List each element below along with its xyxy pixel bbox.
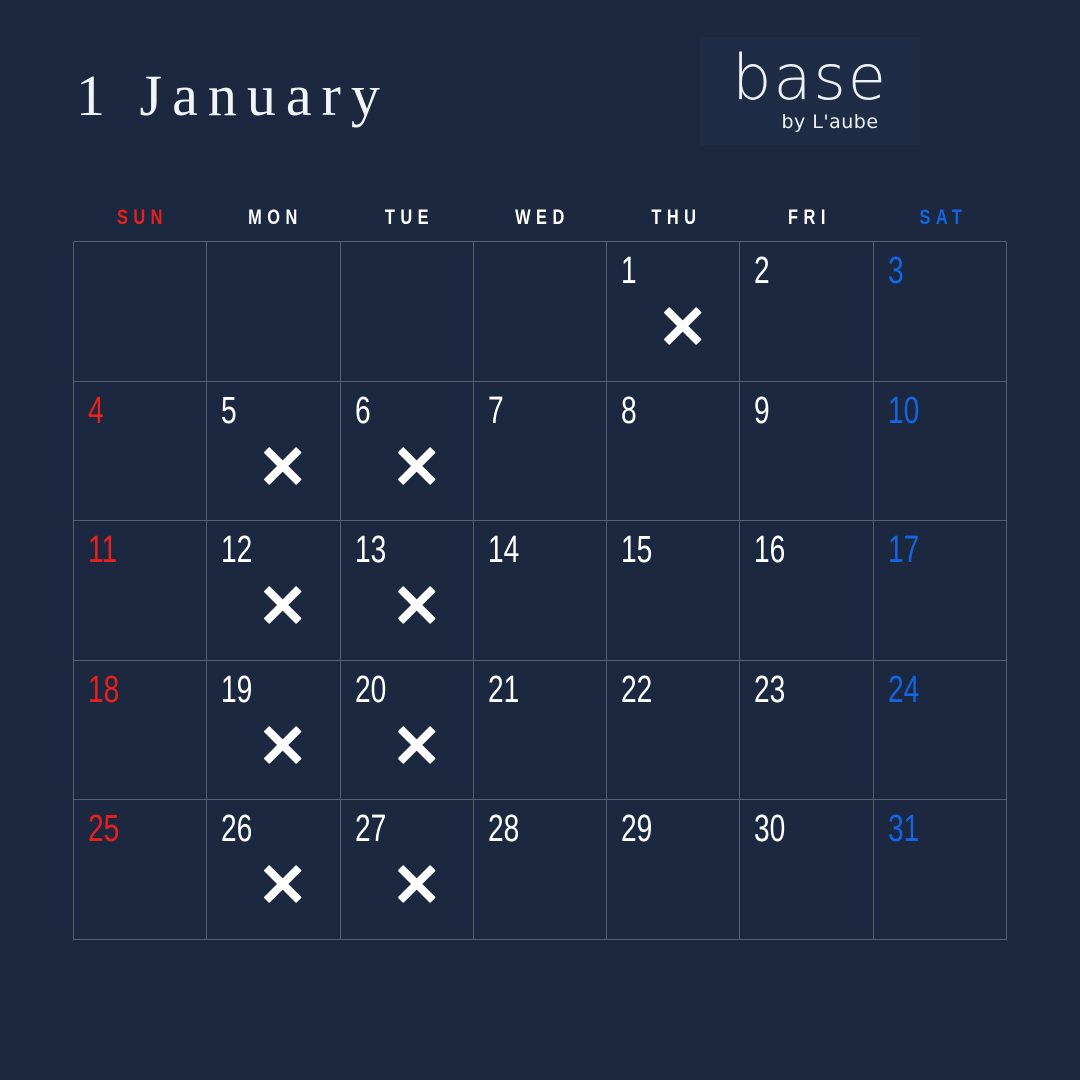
day-number: 19 — [221, 671, 252, 709]
day-number: 2 — [754, 252, 770, 290]
x-mark-icon — [661, 304, 705, 348]
day-number: 23 — [754, 671, 785, 709]
day-cell[interactable]: 21 — [474, 661, 607, 801]
day-number: 8 — [621, 392, 637, 430]
day-number: 5 — [221, 392, 237, 430]
day-number: 22 — [621, 671, 652, 709]
day-number: 24 — [888, 671, 919, 709]
day-number: 13 — [355, 531, 386, 569]
weekday-label-mon: MON — [221, 206, 325, 230]
day-number: 14 — [488, 531, 519, 569]
day-cell[interactable]: 15 — [607, 521, 740, 661]
x-mark-icon — [394, 444, 438, 488]
day-cell[interactable]: 3 — [874, 242, 1007, 382]
day-number: 9 — [754, 392, 770, 430]
day-cell[interactable]: 10 — [874, 382, 1007, 522]
x-mark-icon — [394, 723, 438, 767]
day-cell[interactable]: 9 — [740, 382, 873, 522]
day-cell[interactable]: 4 — [74, 382, 207, 522]
day-number: 31 — [888, 810, 919, 848]
day-number: 11 — [88, 531, 117, 569]
page-title: 1 January — [76, 62, 390, 129]
day-number: 12 — [221, 531, 252, 569]
day-number: 3 — [888, 252, 904, 290]
day-number: 29 — [621, 810, 652, 848]
day-cell-empty — [74, 242, 207, 382]
day-number: 17 — [888, 531, 919, 569]
day-cell[interactable]: 14 — [474, 521, 607, 661]
day-cell[interactable]: 23 — [740, 661, 873, 801]
x-mark-icon — [261, 444, 305, 488]
day-number: 30 — [754, 810, 785, 848]
day-cell[interactable]: 7 — [474, 382, 607, 522]
day-cell[interactable]: 11 — [74, 521, 207, 661]
day-cell[interactable]: 26 — [207, 800, 340, 940]
day-cell[interactable]: 2 — [740, 242, 873, 382]
day-cell[interactable]: 1 — [607, 242, 740, 382]
x-mark-icon — [261, 862, 305, 906]
weekday-label-wed: WED — [488, 206, 592, 230]
calendar-grid: 1234567891011121314151617181920212223242… — [73, 241, 1007, 940]
day-cell[interactable]: 18 — [74, 661, 207, 801]
day-number: 10 — [888, 392, 919, 430]
day-cell[interactable]: 6 — [341, 382, 474, 522]
day-number: 7 — [488, 392, 504, 430]
day-cell[interactable]: 13 — [341, 521, 474, 661]
day-number: 4 — [88, 392, 104, 430]
calendar-poster: 1 January base by L'aube SUNMONTUEWEDTHU… — [0, 0, 1080, 1080]
day-number: 25 — [88, 810, 119, 848]
day-number: 16 — [754, 531, 785, 569]
day-number: 21 — [488, 671, 519, 709]
day-number: 26 — [221, 810, 252, 848]
day-number: 18 — [88, 671, 119, 709]
day-cell[interactable]: 24 — [874, 661, 1007, 801]
x-mark-icon — [261, 583, 305, 627]
day-cell[interactable]: 22 — [607, 661, 740, 801]
day-number: 15 — [621, 531, 652, 569]
day-cell[interactable]: 19 — [207, 661, 340, 801]
x-mark-icon — [394, 583, 438, 627]
day-cell[interactable]: 30 — [740, 800, 873, 940]
day-number: 28 — [488, 810, 519, 848]
x-mark-icon — [394, 862, 438, 906]
day-cell[interactable]: 20 — [341, 661, 474, 801]
day-number: 1 — [621, 252, 637, 290]
day-cell[interactable]: 28 — [474, 800, 607, 940]
day-number: 20 — [355, 671, 386, 709]
day-number: 6 — [355, 392, 371, 430]
day-cell-empty — [474, 242, 607, 382]
brand-tagline: by L'aube — [781, 111, 878, 133]
day-cell[interactable]: 5 — [207, 382, 340, 522]
day-cell[interactable]: 16 — [740, 521, 873, 661]
day-cell[interactable]: 29 — [607, 800, 740, 940]
weekday-label-tue: TUE — [355, 206, 459, 230]
weekday-header-row: SUNMONTUEWEDTHUFRISAT — [73, 206, 1007, 230]
weekday-label-thu: THU — [621, 206, 725, 230]
day-cell-empty — [341, 242, 474, 382]
brand-name: base — [732, 49, 888, 108]
day-number: 27 — [355, 810, 386, 848]
day-cell[interactable]: 31 — [874, 800, 1007, 940]
day-cell[interactable]: 17 — [874, 521, 1007, 661]
day-cell-empty — [207, 242, 340, 382]
day-cell[interactable]: 12 — [207, 521, 340, 661]
day-cell[interactable]: 25 — [74, 800, 207, 940]
weekday-label-sat: SAT — [888, 206, 992, 230]
brand-logo: base by L'aube — [700, 37, 920, 145]
weekday-label-sun: SUN — [88, 206, 192, 230]
x-mark-icon — [261, 723, 305, 767]
weekday-label-fri: FRI — [755, 206, 859, 230]
day-cell[interactable]: 27 — [341, 800, 474, 940]
day-cell[interactable]: 8 — [607, 382, 740, 522]
